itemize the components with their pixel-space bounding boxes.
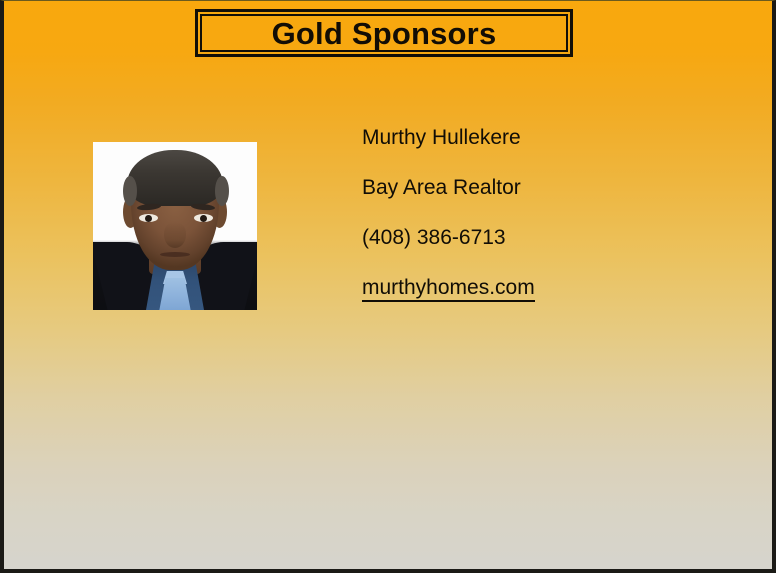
sponsor-name: Murthy Hullekere [362,127,732,148]
photo-eye-right [194,214,213,222]
slide-canvas: Gold Sponsors [0,0,776,573]
photo-hair-temple-left [123,176,137,206]
title-banner-inner-border: Gold Sponsors [200,14,568,52]
page-title: Gold Sponsors [272,18,497,49]
sponsor-website-link[interactable]: murthyhomes.com [362,277,535,302]
photo-eye-left [139,214,158,222]
sponsor-info-block: Murthy Hullekere Bay Area Realtor (408) … [362,127,732,302]
sponsor-phone: (408) 386-6713 [362,227,732,248]
sponsor-photo [93,142,257,310]
sponsor-photo-frame [93,142,257,310]
photo-pupil-left [145,215,152,222]
photo-hair [127,150,223,206]
photo-nose [164,222,186,248]
photo-mouth [160,252,190,257]
title-banner: Gold Sponsors [195,9,573,57]
sponsor-role: Bay Area Realtor [362,177,732,198]
photo-hair-temple-right [215,176,229,206]
sponsor-website-row: murthyhomes.com [362,277,732,302]
photo-pupil-right [200,215,207,222]
